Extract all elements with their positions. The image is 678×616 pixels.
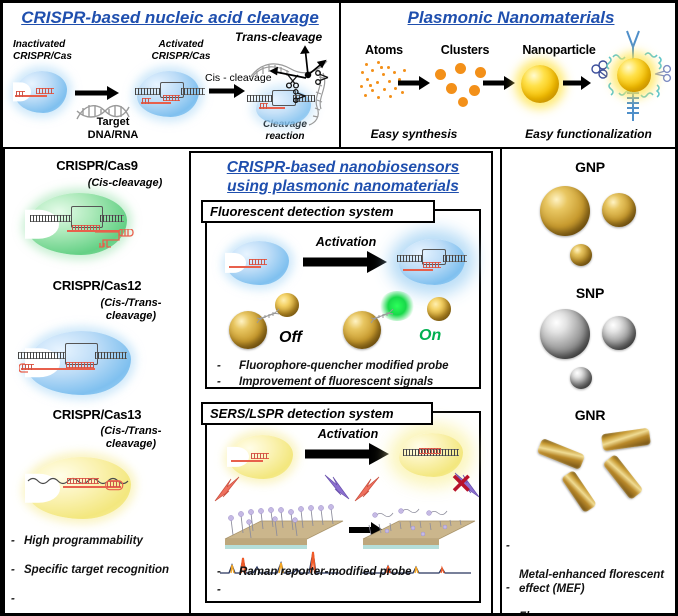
panel-center: CRISPR-based nanobiosensors using plasmo… (189, 151, 493, 616)
gnp-label: GNP (502, 159, 678, 175)
cas13-cleavage-label: (Cis-/Trans- cleavage) (75, 425, 187, 451)
panel-top-right: Plasmonic Nanomaterials Atoms Clusters N… (341, 3, 678, 147)
probe-linker-on (369, 303, 397, 329)
arrow-nanoparticle-to-functionalized (563, 77, 591, 89)
arrow-cleavage (209, 85, 245, 97)
fluor-cas-inactive-rna (249, 259, 267, 265)
sers-activation-arrow (305, 445, 389, 463)
sers-cas-inactive-rna (251, 453, 269, 459)
sers-bullet-1: - Raman reporter-modified probe (217, 565, 479, 579)
gnp-small (570, 244, 592, 266)
cas9-cleavage-label: (Cis-cleavage) (65, 177, 185, 189)
activated-guide-rna (163, 95, 180, 101)
cas9-dna-left (30, 215, 72, 222)
fluor-bullet-2: - Improvement of fluorescent signals (217, 375, 477, 389)
bullet-dash: - (506, 539, 510, 553)
state-off-label: Off (279, 329, 302, 347)
panel-left-column: CRISPR/Cas9 (Cis-cleavage) CRISPR/Cas12 … (5, 149, 189, 616)
nanoparticle-sphere (521, 65, 559, 103)
bullet-dash: - (506, 581, 510, 595)
arrow-target-binding (75, 87, 119, 99)
snp-small (570, 367, 592, 389)
sers-active-guide-rna (419, 448, 441, 454)
cas13-label: CRISPR/Cas13 (5, 407, 189, 422)
gnr-label: GNR (502, 407, 678, 423)
fluorescent-system-box: Activation Off (205, 209, 481, 389)
step-label-clusters: Clusters (429, 43, 501, 57)
bullet-dash: - (217, 359, 221, 373)
snp-label: SNP (502, 285, 678, 301)
cleavage-pointer-arrows (253, 41, 333, 103)
activated-dna-left (135, 88, 161, 95)
cas12-dna-left (18, 352, 66, 359)
fluor-active-dna-right (443, 255, 467, 262)
probe-linker-off (255, 303, 283, 329)
bullet-dash: - (11, 534, 15, 548)
step-label-atoms: Atoms (351, 43, 417, 57)
fluor-bullet-1: - Fluorophore-quencher modified probe (217, 359, 477, 373)
cas13-rna-cap (105, 480, 125, 492)
cas12-rna-hook (19, 363, 33, 375)
cas9-dna-right (100, 215, 124, 222)
fluor-activation-label: Activation (303, 235, 389, 249)
activated-cas-label: Activated CRISPR/Cas (141, 39, 221, 63)
fluorescent-system-label: Fluorescent detection system (201, 200, 435, 223)
center-title: CRISPR-based nanobiosensors using plasmo… (199, 159, 487, 196)
gnp-large (540, 186, 590, 236)
sers-system-box: Activation (205, 411, 481, 603)
cas12-cleavage-label: (Cis-/Trans- cleavage) (75, 297, 187, 323)
inactivated-guide-rna (36, 88, 54, 94)
cas9-label: CRISPR/Cas9 (5, 158, 189, 173)
activated-dna-right (181, 88, 205, 95)
left-bullet-1: - High programmability (11, 534, 187, 548)
cas9-sgrna-scaffold (93, 229, 138, 255)
cas13-guide-rna (67, 478, 99, 484)
target-dna-label: Target DNA/RNA (81, 116, 145, 141)
gnp-medium (602, 193, 636, 227)
bullet-dash: - (217, 375, 221, 389)
gnr-rod-4 (561, 470, 597, 513)
fluor-activation-arrow (303, 253, 387, 271)
caption-easy-synthesis: Easy synthesis (359, 127, 469, 141)
sers-system-label: SERS/LSPR detection system (201, 402, 433, 425)
left-bullet-3: - Cis-/ trans-cleavage properties for bi… (11, 592, 187, 616)
fluor-cas-inactive-rna-tail (229, 266, 261, 268)
figure-root: CRISPR-based nucleic acid cleavage Inact… (0, 0, 678, 616)
snp-large (540, 309, 590, 359)
fluor-active-rna-tail (403, 269, 433, 271)
panel-top-left: CRISPR-based nucleic acid cleavage Inact… (3, 3, 339, 147)
inactivated-cas-label: Inactivated CRISPR/Cas (13, 39, 97, 63)
arrow-atoms-to-clusters (398, 77, 430, 89)
bullet-dash: - (217, 583, 221, 597)
raman-signal-bolt-left (315, 473, 351, 503)
gnr-rod-1 (601, 428, 651, 452)
signal-blocked-x-icon: ✕ (450, 471, 473, 498)
state-on-label: On (419, 327, 441, 345)
cas12-label: CRISPR/Cas12 (5, 278, 189, 293)
laser-excitation-bolt-left (213, 475, 249, 505)
bullet-dash: - (217, 565, 221, 579)
gnr-rod-2 (537, 438, 586, 470)
free-gold-sphere-on (427, 297, 451, 321)
bullet-dash: - (11, 563, 15, 577)
caption-easy-functionalization: Easy functionalization (501, 127, 676, 141)
panel-right-column: GNP SNP GNR - Metal-enhanced florescent … (502, 149, 678, 616)
cas12-dna-right (95, 352, 127, 359)
sers-cas-inactive-rna-tail (231, 460, 263, 462)
left-bullet-2: - Specific target recognition (11, 563, 187, 577)
top-left-title: CRISPR-based nucleic acid cleavage (11, 8, 329, 27)
inactivated-rna-loop (16, 91, 25, 97)
activated-rna-loop (142, 98, 151, 104)
arrow-clusters-to-nanoparticle (483, 77, 515, 89)
bullet-dash: - (11, 592, 15, 606)
sers-bullet-2: - Enhancement of sensitivity using plasm… (217, 583, 479, 616)
sers-activation-label: Activation (305, 427, 391, 441)
functionalized-nanoparticle (589, 25, 677, 127)
fluor-active-dna-left (397, 255, 423, 262)
gnr-rod-3 (603, 454, 644, 500)
right-bullet-2: - Fluorescence resonance energy transfer… (506, 581, 678, 616)
fluor-active-guide-rna (423, 262, 441, 268)
laser-excitation-bolt-right (353, 475, 389, 505)
snp-medium (602, 316, 636, 350)
